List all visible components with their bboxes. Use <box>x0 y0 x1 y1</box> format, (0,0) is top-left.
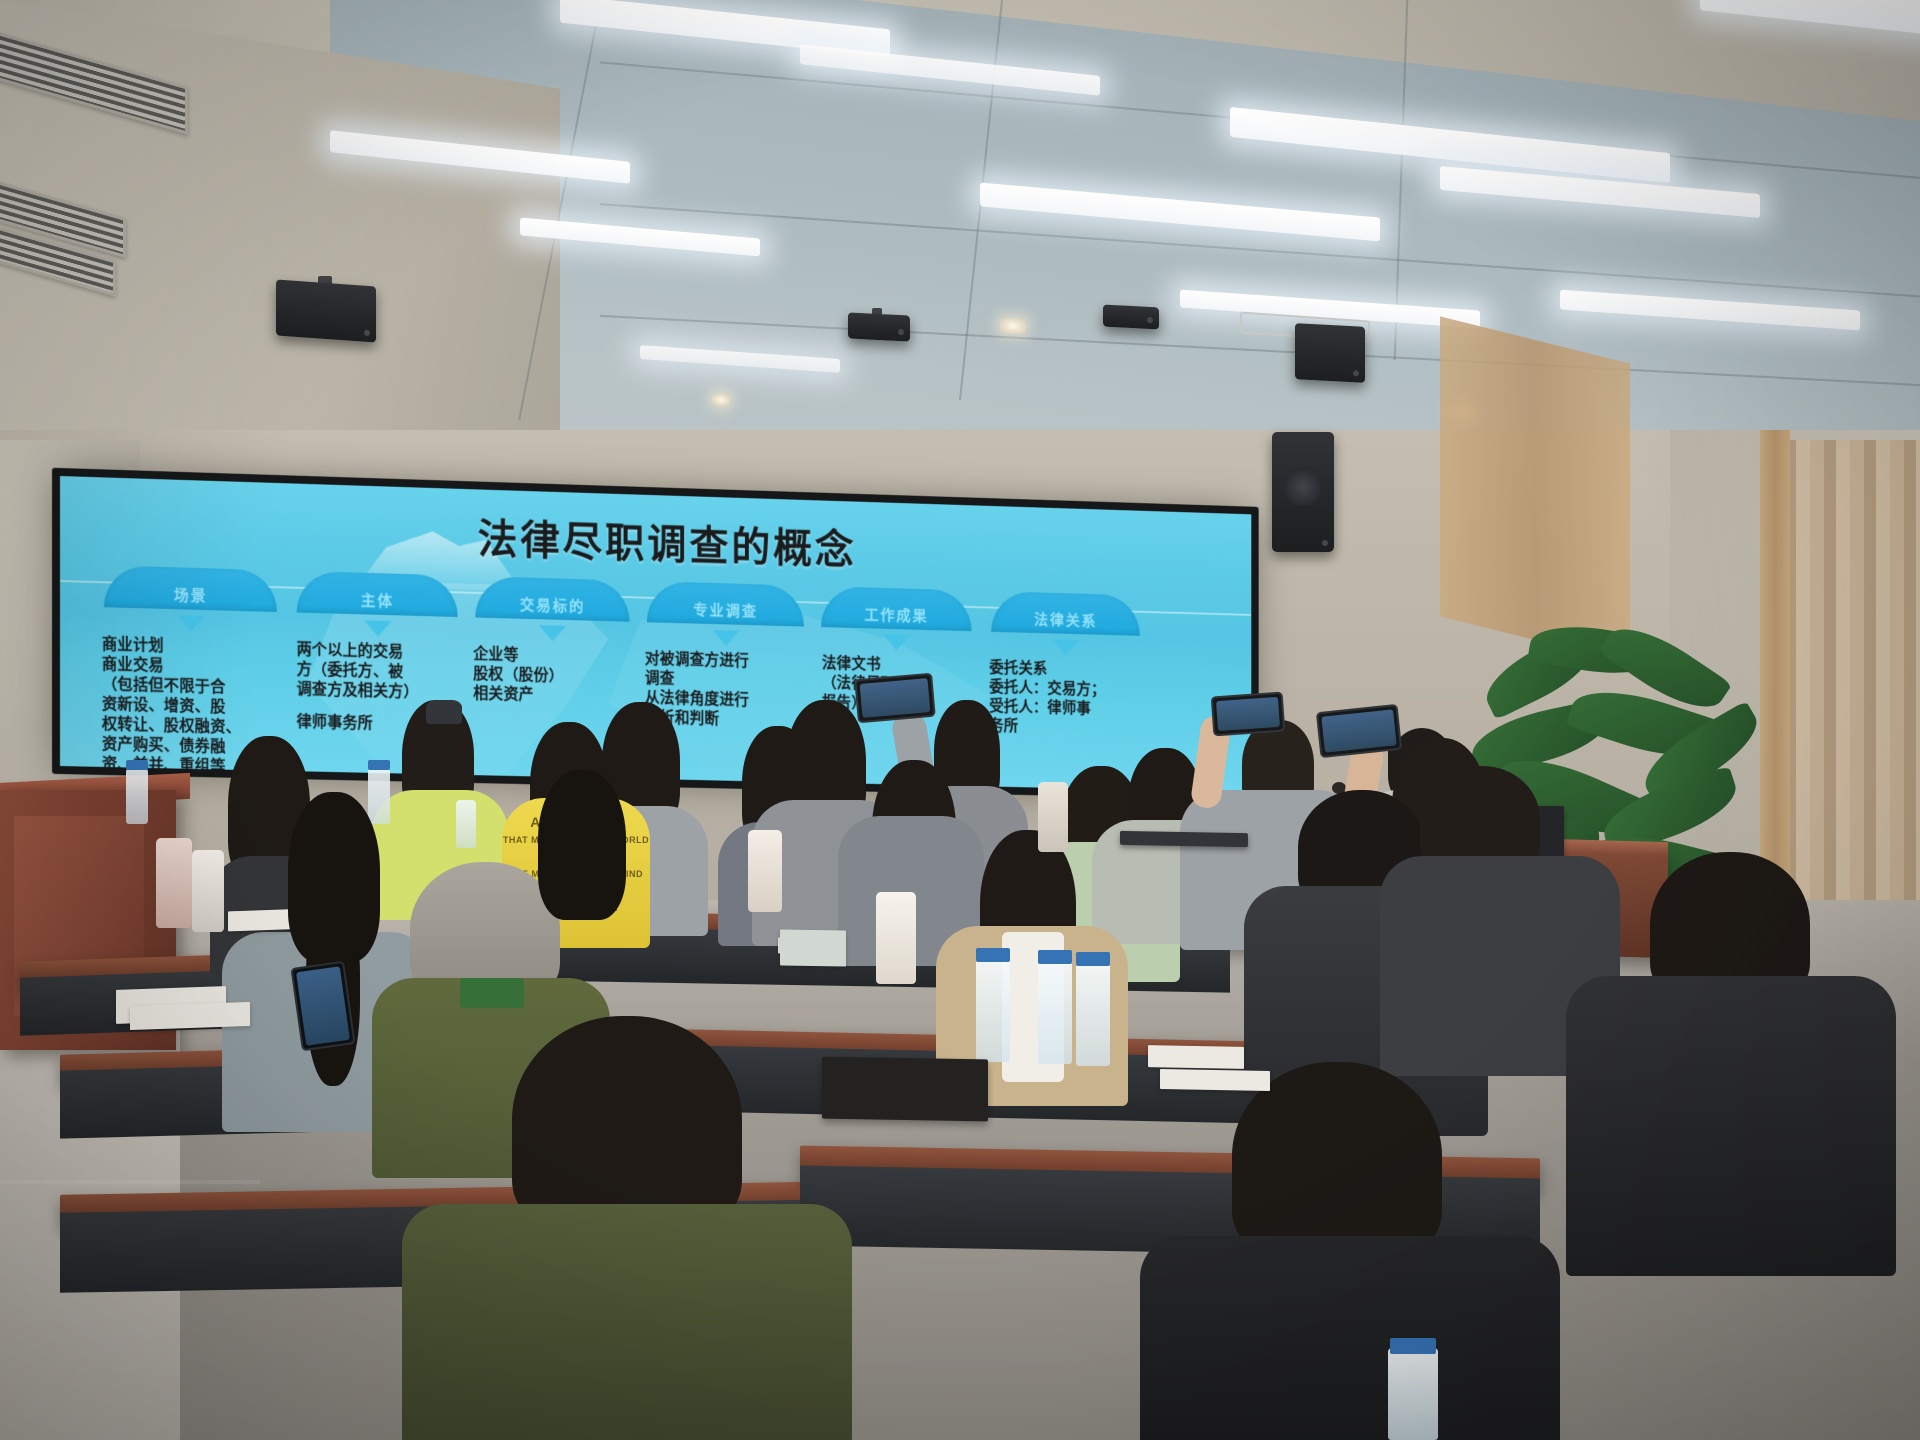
laptop-base <box>1120 831 1248 847</box>
recessed-downlight-icon <box>712 394 730 407</box>
paper-sheet <box>130 1002 250 1030</box>
collar-patch <box>460 978 524 1008</box>
thermos-tumbler <box>156 838 192 928</box>
bottle-cap <box>1076 952 1110 966</box>
thermos-tumbler <box>192 850 224 932</box>
slide-arrow-4 <box>712 630 739 646</box>
slide-arrow-6 <box>1053 639 1079 655</box>
person-top <box>1140 1236 1560 1440</box>
person-hair <box>538 770 626 920</box>
slide-arrow-5 <box>883 635 909 651</box>
thermos-tumbler <box>1038 782 1068 852</box>
water-bottle <box>1038 960 1072 1064</box>
phone-screen <box>860 678 931 718</box>
slide-column-3: 企业等股权（股份）相关资产 <box>473 645 627 708</box>
smartphone[interactable] <box>1211 692 1286 737</box>
ceiling-speaker <box>848 312 910 341</box>
wall-speaker-cone <box>1284 468 1322 506</box>
paper-sheet <box>1160 1069 1270 1091</box>
water-bottle <box>1076 962 1110 1066</box>
person-hair <box>512 1016 742 1232</box>
lecture-room-photo: 法律尽职调查的概念 场景主体交易标的专业调查工作成果法律关系 商业计划商业交易（… <box>0 0 1920 1440</box>
floor-seam <box>0 1180 260 1184</box>
ceiling-speaker <box>1103 305 1159 330</box>
phone-screen <box>296 966 350 1045</box>
person-top <box>1566 976 1896 1276</box>
water-bottle <box>1388 1348 1438 1440</box>
smartphone[interactable] <box>290 961 355 1052</box>
slide-arrow-2 <box>364 620 391 637</box>
slide-dome-4: 专业调查 <box>647 581 804 626</box>
water-bottle <box>126 768 148 824</box>
slide-dome-3: 交易标的 <box>475 576 629 622</box>
booklet <box>780 929 846 966</box>
person-cap <box>426 700 462 724</box>
thermos-tumbler <box>876 892 916 984</box>
slide-dome-5: 工作成果 <box>821 586 972 631</box>
smartphone[interactable] <box>854 673 936 724</box>
wood-wall-trim <box>1440 316 1630 663</box>
bottle-cap <box>368 760 390 770</box>
paper-sheet <box>1148 1045 1244 1069</box>
slide-column-4: 对被调查方进行调查从法律角度进行分析和判断 <box>645 650 816 733</box>
slide-dome-1: 场景 <box>104 565 277 612</box>
bottle-cap <box>1390 1338 1436 1354</box>
person-hair <box>1232 1062 1442 1258</box>
recessed-downlight-icon <box>1000 317 1026 335</box>
slide-column-6: 委托关系委托人：交易方；受托人：律师事务所 <box>989 659 1156 740</box>
notebook <box>822 1057 988 1122</box>
slide-arrow-3 <box>539 625 566 641</box>
smartphone[interactable] <box>1316 704 1402 758</box>
water-bottle <box>456 800 476 848</box>
ceiling-speaker <box>276 280 376 343</box>
ceiling-speaker <box>1295 323 1365 383</box>
thermos-tumbler <box>748 830 782 912</box>
water-bottle <box>368 768 390 824</box>
person-top <box>402 1204 852 1440</box>
bottle-cap <box>1038 950 1072 964</box>
slide-dome-6: 法律关系 <box>991 591 1140 636</box>
water-bottle <box>976 958 1010 1062</box>
phone-screen <box>1321 709 1396 752</box>
slide-dome-2: 主体 <box>297 571 458 617</box>
bottle-cap <box>126 760 148 770</box>
bottle-cap <box>976 948 1010 962</box>
slide-arrow-1 <box>177 615 205 632</box>
phone-screen <box>1216 697 1280 731</box>
